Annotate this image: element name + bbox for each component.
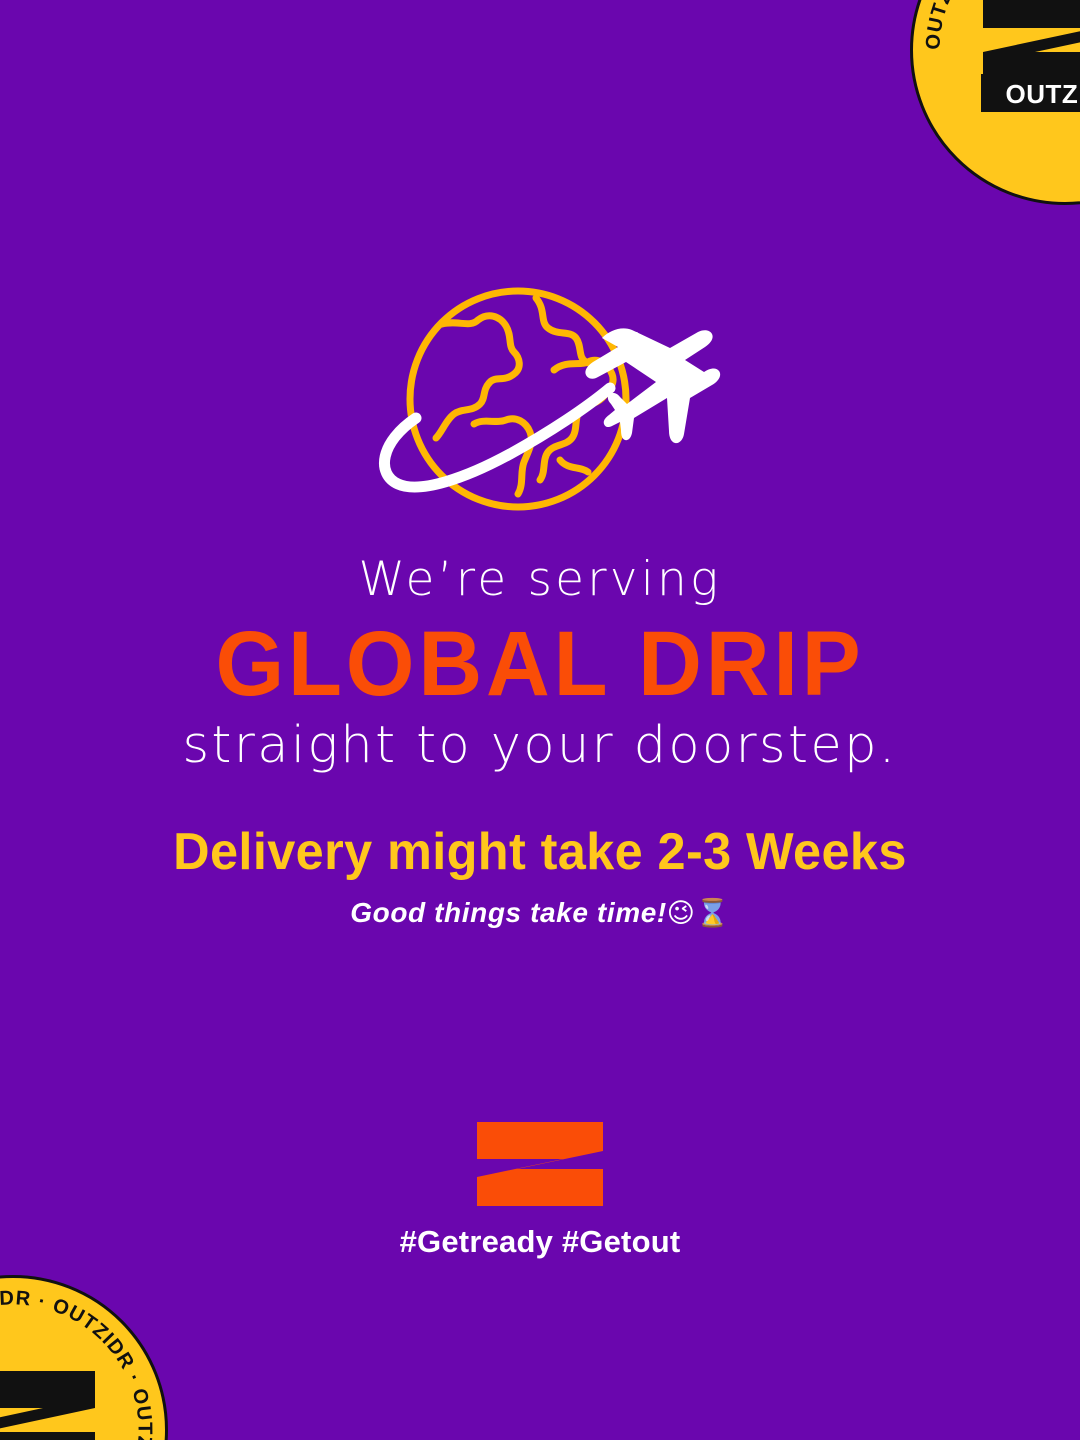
delivery-subtext-label: Good things take time! — [350, 897, 667, 928]
headline-line-3: straight to your doorstep. — [0, 716, 1080, 776]
brand-z-icon — [0, 1368, 101, 1440]
delivery-subtext: Good things take time!😉⌛ — [0, 897, 1080, 929]
footer-brand-z-icon — [475, 1122, 605, 1206]
headline-line-1: We’re serving — [0, 552, 1080, 607]
badge-bottom-left: OUTZIDR · OUTZIDR · OUTZIDR · OUTZIDR · … — [0, 1275, 168, 1440]
delivery-emoji: 😉⌛ — [667, 898, 730, 929]
badge-top-right: OUTZIDR · OUTZIDR · OUTZIDR · OUTZIDR · … — [910, 0, 1080, 205]
badge-wordmark: OUTZIDR — [981, 74, 1080, 112]
delivery-headline: Delivery might take 2-3 Weeks — [16, 823, 1064, 881]
poster-canvas: OUTZIDR · OUTZIDR · OUTZIDR · OUTZIDR · … — [0, 0, 1080, 1440]
headline-line-2: GLOBAL DRIP — [22, 618, 1059, 710]
badge-wordmark-text: OUTZIDR — [981, 74, 1080, 112]
headline-block: We’re serving GLOBAL DRIP straight to yo… — [0, 552, 1080, 777]
footer-block: #Getready #Getout — [0, 1122, 1080, 1260]
globe-airplane-illustration — [354, 272, 726, 524]
delivery-block: Delivery might take 2-3 Weeks Good thing… — [0, 823, 1080, 929]
globe-airplane-icon — [354, 272, 726, 524]
svg-text:OUTZIDR: OUTZIDR — [1005, 79, 1080, 109]
badge-core-bottom-left: OUTZIDR — [0, 1368, 101, 1440]
globe-landmass-small — [560, 460, 588, 472]
footer-tagline: #Getready #Getout — [0, 1224, 1080, 1260]
brand-z-icon — [475, 1122, 605, 1206]
badge-core-top-right: OUTZIDR — [977, 0, 1080, 112]
